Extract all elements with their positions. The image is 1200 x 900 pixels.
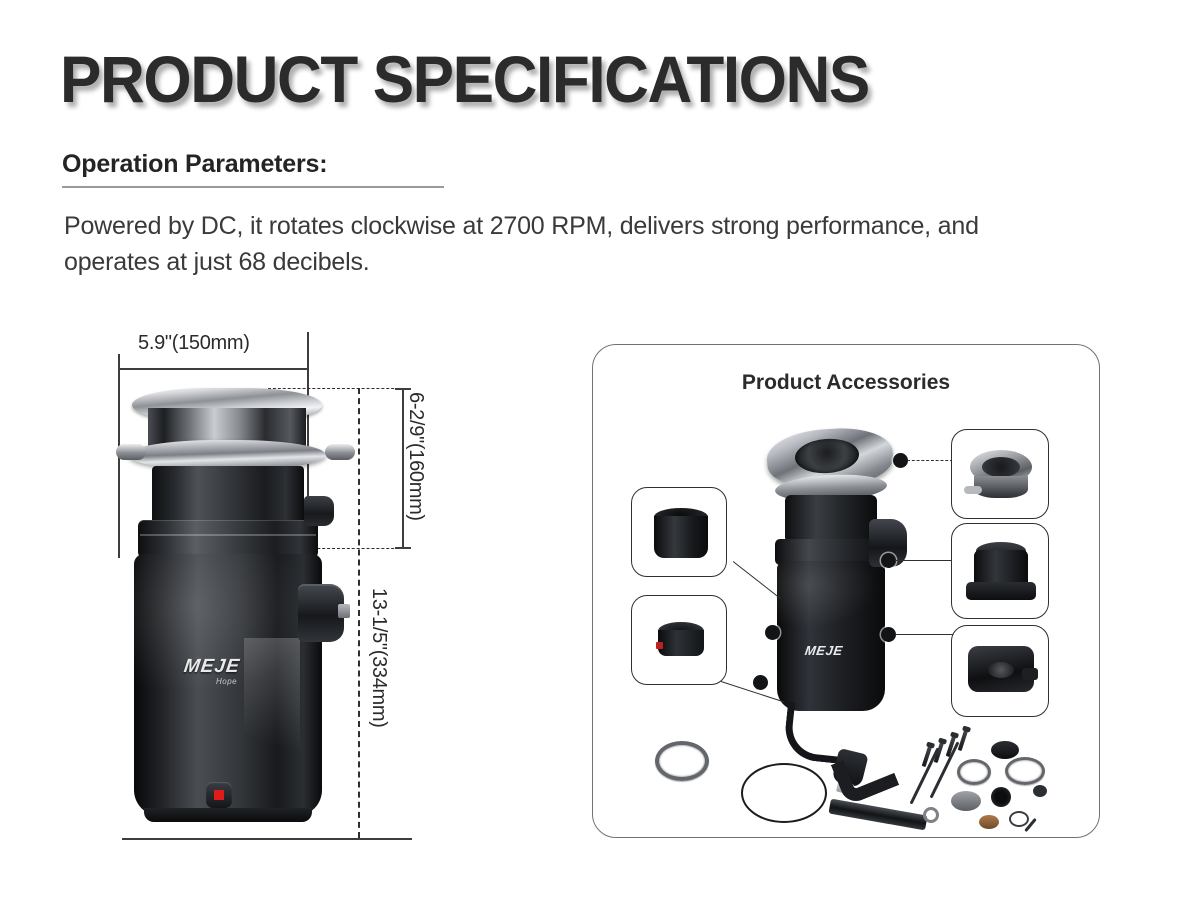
connector-hopper <box>895 560 953 561</box>
dim-width-line <box>118 368 308 370</box>
hardware-gasket-black <box>991 741 1019 759</box>
screw-head <box>950 731 959 738</box>
dim-ext-left <box>118 368 120 558</box>
section-heading: Operation Parameters: <box>62 150 444 186</box>
reset-button[interactable] <box>206 782 232 808</box>
unit-neck <box>152 466 304 524</box>
callout-dot-flange <box>893 453 908 468</box>
exploded-brand-logo: MEJE <box>804 643 844 658</box>
hardware-brass-washer <box>979 815 999 829</box>
flange-assembly-opening <box>982 457 1020 477</box>
callout-dot-base <box>799 717 817 735</box>
accessories-panel: Product Accessories MEJE <box>592 344 1100 838</box>
hardware-nut-small <box>1033 785 1047 797</box>
hardware-rubber-washer <box>991 787 1011 807</box>
power-cord <box>782 702 846 764</box>
page-title: PRODUCT SPECIFICATIONS <box>60 46 869 112</box>
connector-flange <box>907 460 953 461</box>
hardware-clamp-ring <box>1005 757 1045 785</box>
flange-tab-right <box>325 444 355 460</box>
flange-assembly-tab <box>964 486 982 494</box>
unit-collar <box>138 520 318 558</box>
garbage-disposal-unit: MEJE Hope <box>128 388 343 848</box>
callout-box-grinding-chamber-assembly[interactable] <box>631 595 727 685</box>
hardware-small-ring <box>923 807 939 823</box>
dim-width-tick-right <box>307 332 309 368</box>
dim-upper-tick-top <box>395 388 411 390</box>
upper-outlet-port <box>304 496 334 526</box>
dim-upper-tick-bottom <box>395 547 411 549</box>
exploded-neck <box>785 495 877 543</box>
flange-assembly-body <box>974 476 1028 498</box>
hardware-screw-4 <box>958 729 969 751</box>
callout-dot-hopper <box>881 553 896 568</box>
callout-box-sink-flange-mounting-assembly[interactable] <box>951 429 1049 519</box>
dimension-label-width: 5.9"(150mm) <box>138 332 250 355</box>
motor-cover-tab <box>1022 668 1038 680</box>
shell-highlight <box>244 638 300 808</box>
screw-head <box>938 737 947 744</box>
operation-parameters-section: Operation Parameters: <box>62 150 444 188</box>
collar-seam <box>140 534 316 536</box>
flange-tab-left <box>116 444 146 460</box>
exploded-unit: MEJE <box>761 429 911 729</box>
outlet-stub <box>338 604 350 618</box>
exploded-motor-housing <box>777 561 885 711</box>
callout-dot-motor-cover <box>881 627 896 642</box>
callout-dot-chamber <box>753 675 768 690</box>
hardware-metal-washer-ring <box>957 759 991 785</box>
reset-button-indicator <box>214 790 224 800</box>
technical-drawing: 5.9"(150mm) 6-2/9"(160mm) 13-1/5"(334mm)… <box>110 330 470 860</box>
callout-box-upper-housing-hopper[interactable] <box>951 523 1049 619</box>
callout-box-lower-motor-cover[interactable] <box>951 625 1049 717</box>
accessories-panel-title: Product Accessories <box>593 371 1099 395</box>
callout-box-splash-guard-baffle[interactable] <box>631 487 727 577</box>
screw-head <box>962 725 971 732</box>
motor-cover-hub <box>988 662 1014 678</box>
hopper-flange-base <box>966 582 1036 600</box>
baffle-body <box>654 516 708 558</box>
hardware-flat-washer <box>951 791 981 811</box>
dimension-label-total-height: 13-1/5"(334mm) <box>367 588 390 728</box>
brand-logo: MEJE <box>182 656 241 678</box>
connector-motor-cover <box>895 634 953 635</box>
unit-base <box>144 808 312 822</box>
callout-dot-baffle <box>765 625 780 640</box>
chamber-body <box>658 630 704 656</box>
chamber-reset-button <box>656 642 663 649</box>
operation-parameters-body: Powered by DC, it rotates clockwise at 2… <box>64 209 1074 280</box>
dim-total-dashed-reference <box>358 388 360 838</box>
dimension-label-upper-height: 6-2/9"(160mm) <box>404 392 427 521</box>
hardware-mounting-ring <box>655 741 709 781</box>
brand-sub-logo: Hope <box>216 677 237 686</box>
dim-width-tick-left <box>118 354 120 368</box>
hardware-rubber-o-ring <box>741 763 827 823</box>
screw-head <box>926 741 935 748</box>
hardware-retaining-ring <box>1009 811 1029 827</box>
section-underline <box>62 186 444 188</box>
